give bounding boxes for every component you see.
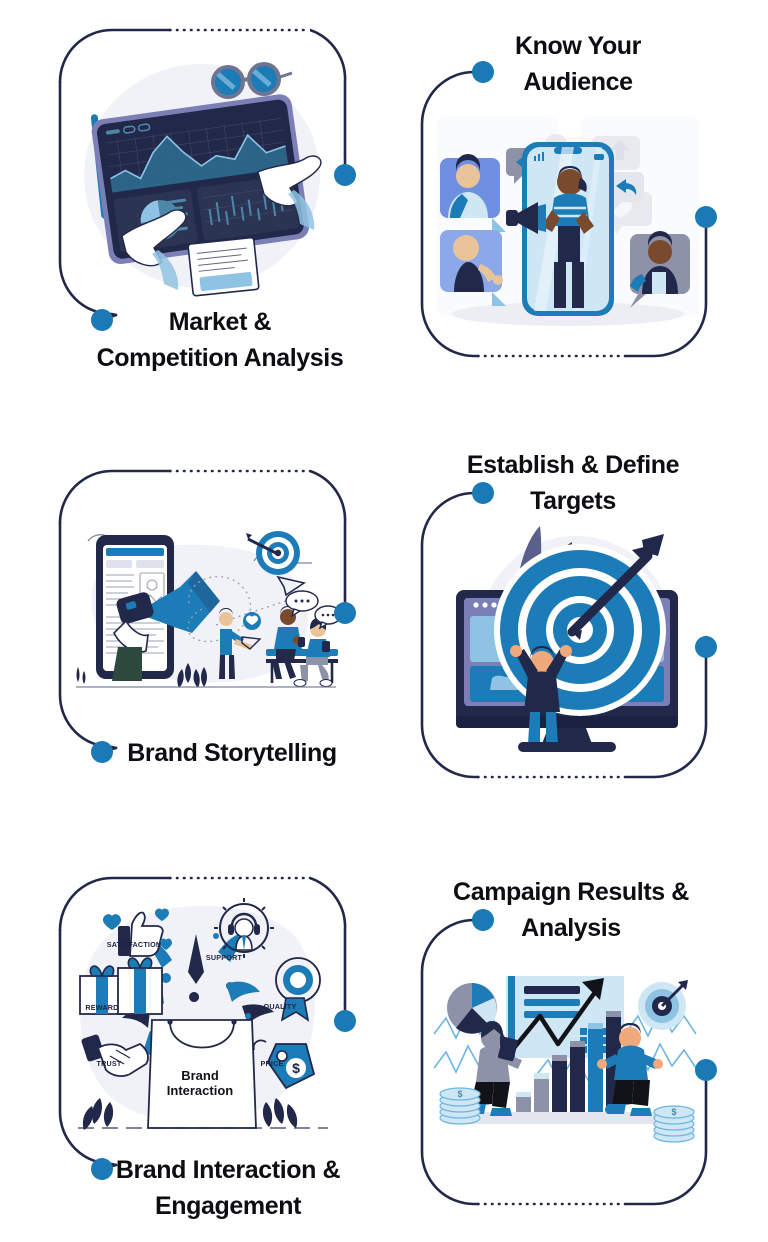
- title-line-2: Analysis: [416, 910, 726, 946]
- bag-label-line-1: Brand: [145, 1068, 255, 1083]
- title-line-1: Know Your: [438, 28, 718, 64]
- card-title-know-your-audience: Know Your Audience: [438, 28, 718, 100]
- illustration-campaign-results: $ $: [430, 972, 700, 1152]
- title-line-1: Campaign Results &: [416, 874, 726, 910]
- bag-label-line-2: Interaction: [145, 1083, 255, 1098]
- attribute-label-reward: REWARD: [85, 1003, 118, 1012]
- svg-text:$: $: [671, 1107, 676, 1117]
- illustration-monitor-target-arrow: [436, 520, 698, 752]
- card-title-establish-define-targets: Establish & Define Targets: [428, 447, 718, 519]
- illustration-brand-storytelling: [70, 517, 338, 697]
- infographic-board: Market & Competition Analysis: [0, 0, 768, 1242]
- card-title-brand-interaction-engagement: Brand Interaction & Engagement: [78, 1152, 378, 1224]
- illustration-tablet-stock-chart: [62, 54, 338, 304]
- illustration-phone-megaphone-social: [434, 114, 702, 336]
- attribute-label-quality: QUALITY: [264, 1002, 297, 1011]
- card-establish-define-targets[interactable]: Establish & Define Targets: [408, 435, 728, 805]
- svg-text:$: $: [292, 1060, 300, 1076]
- title-line-2: Targets: [428, 483, 718, 519]
- title-line-1: Establish & Define: [428, 447, 718, 483]
- svg-text:$: $: [457, 1089, 462, 1099]
- title-line-1: Market &: [60, 304, 380, 340]
- attribute-label-price: PRICE: [261, 1059, 284, 1068]
- title-line-2: Engagement: [78, 1188, 378, 1224]
- card-title-campaign-results-analysis: Campaign Results & Analysis: [416, 874, 726, 946]
- attribute-label-support: SUPPORT: [206, 953, 242, 962]
- illustration-brand-interaction: $: [66, 890, 338, 1142]
- title-line-1: Brand Storytelling: [82, 735, 382, 771]
- card-brand-storytelling[interactable]: Brand Storytelling: [40, 455, 360, 810]
- connector-dot-right: [695, 636, 717, 658]
- card-brand-interaction-engagement[interactable]: $: [40, 862, 360, 1232]
- attribute-label-trust: TRUST: [97, 1059, 122, 1068]
- title-line-2: Competition Analysis: [60, 340, 380, 376]
- attribute-label-satisfaction: SATISFACTION: [107, 940, 162, 949]
- card-know-your-audience[interactable]: Know Your Audience: [408, 14, 728, 384]
- title-line-1: Brand Interaction &: [78, 1152, 378, 1188]
- card-market-competition-analysis[interactable]: Market & Competition Analysis: [40, 14, 360, 384]
- card-campaign-results-analysis[interactable]: $ $: [408, 862, 728, 1232]
- title-line-2: Audience: [438, 64, 718, 100]
- card-title-market-competition-analysis: Market & Competition Analysis: [60, 304, 380, 376]
- bag-center-label: Brand Interaction: [145, 1068, 255, 1098]
- card-title-brand-storytelling: Brand Storytelling: [82, 735, 382, 771]
